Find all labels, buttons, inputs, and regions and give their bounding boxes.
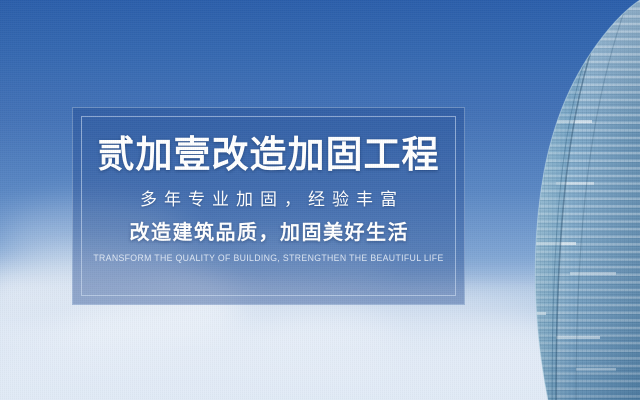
subtitle-secondary: 改造建筑品质，加固美好生活 <box>73 211 464 246</box>
skyscraper-illustration <box>460 0 640 400</box>
page-title: 贰加壹改造加固工程 <box>73 108 464 176</box>
skyscraper-photo <box>460 0 640 400</box>
panel-content: 贰加壹改造加固工程 多年专业加固，经验丰富 改造建筑品质，加固美好生活 TRAN… <box>73 108 464 265</box>
subtitle-primary: 多年专业加固，经验丰富 <box>73 176 464 211</box>
headline-panel: 贰加壹改造加固工程 多年专业加固，经验丰富 改造建筑品质，加固美好生活 TRAN… <box>72 107 465 305</box>
english-tagline: TRANSFORM THE QUALITY OF BUILDING, STREN… <box>79 246 458 265</box>
promo-banner: 贰加壹改造加固工程 多年专业加固，经验丰富 改造建筑品质，加固美好生活 TRAN… <box>0 0 640 400</box>
